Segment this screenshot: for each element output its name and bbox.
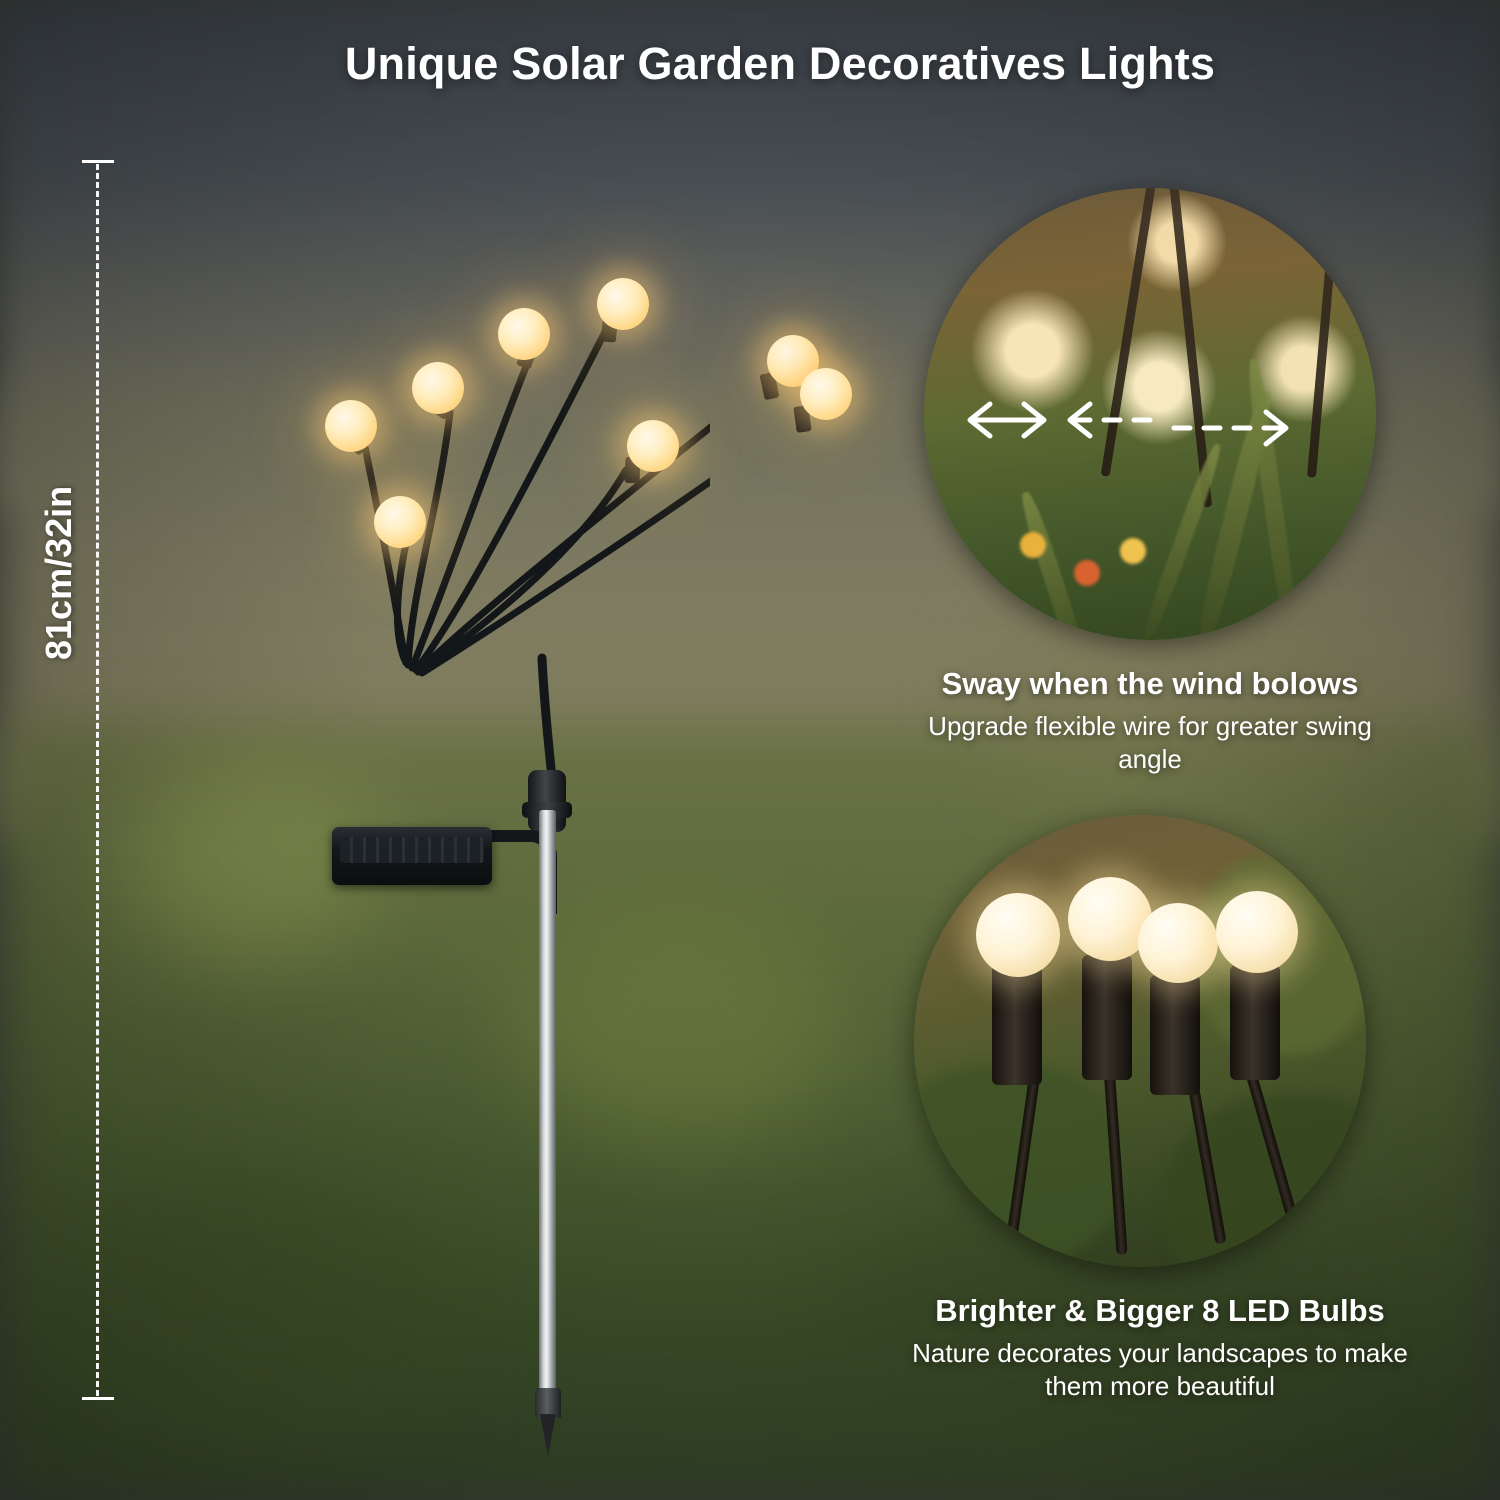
measure-dashed-line xyxy=(96,164,99,1396)
bulb-socket xyxy=(1082,955,1132,1080)
led-bulb xyxy=(498,308,550,360)
bulbs-feature-photo xyxy=(914,815,1366,1267)
bulbs-feature-subtitle: Nature decorates your landscapes to make… xyxy=(900,1337,1420,1404)
bulbs-feature-title: Brighter & Bigger 8 LED Bulbs xyxy=(900,1293,1420,1329)
stem-wires-svg xyxy=(150,130,710,850)
led-bulb xyxy=(1138,903,1218,983)
page-title: Unique Solar Garden Decoratives Lights xyxy=(0,38,1500,90)
double-arrow-icon xyxy=(924,188,1376,640)
bulb-socket xyxy=(1230,965,1280,1080)
led-bulb xyxy=(1216,891,1298,973)
led-bulb xyxy=(800,368,852,420)
stake-pole xyxy=(539,810,556,1400)
bulb-socket xyxy=(1150,975,1200,1095)
product-image xyxy=(150,130,710,1420)
measure-cap-top xyxy=(82,160,114,163)
measurement-label: 81cm/32in xyxy=(38,486,80,660)
led-bulb xyxy=(976,893,1060,977)
led-bulb xyxy=(325,400,377,452)
product-stems xyxy=(150,130,710,850)
height-measure-line xyxy=(96,150,98,1410)
led-bulb xyxy=(597,278,649,330)
sway-feature-title: Sway when the wind bolows xyxy=(900,666,1400,702)
sway-feature-subtitle: Upgrade flexible wire for greater swing … xyxy=(900,710,1400,777)
sway-feature-photo xyxy=(924,188,1376,640)
led-bulb xyxy=(412,362,464,414)
led-bulb xyxy=(627,420,679,472)
solar-panel xyxy=(332,827,492,885)
product-infographic: Unique Solar Garden Decoratives Lights 8… xyxy=(0,0,1500,1500)
ground-spike-tip xyxy=(540,1414,556,1456)
sway-feature: Sway when the wind bolows Upgrade flexib… xyxy=(900,188,1400,777)
measure-cap-bottom xyxy=(82,1397,114,1400)
led-bulb xyxy=(374,496,426,548)
bulbs-feature: Brighter & Bigger 8 LED Bulbs Nature dec… xyxy=(900,815,1420,1404)
bulb-socket xyxy=(992,965,1042,1085)
